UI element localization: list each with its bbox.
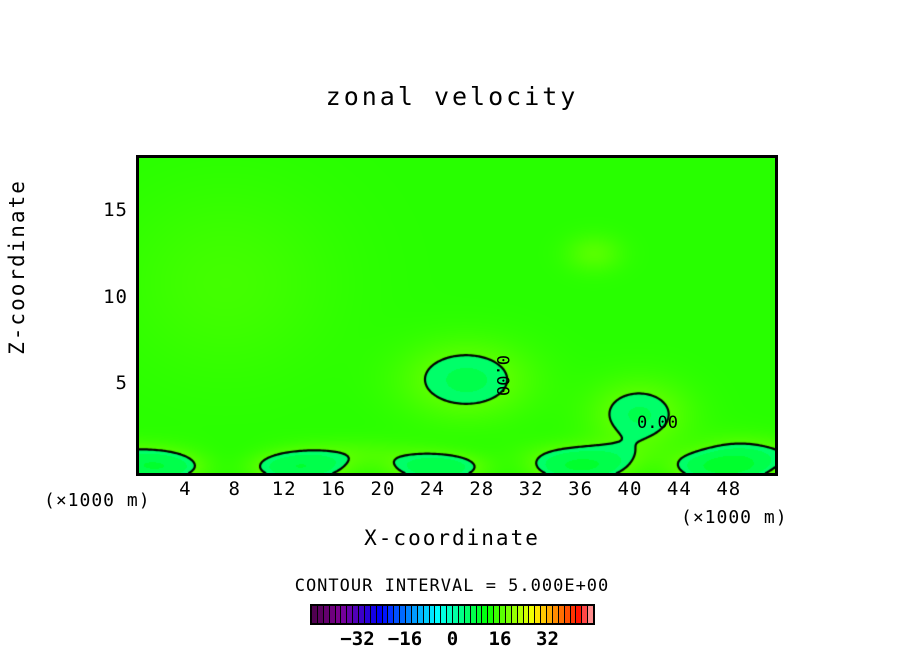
y-axis-tick-label: 5: [88, 372, 128, 394]
y-axis-units-label: (×1000 m): [44, 490, 151, 511]
x-axis-tick-label: 16: [312, 478, 356, 500]
contour-label-horizontal: 0.00: [637, 413, 678, 433]
colorbar-tick-labels: −32−1601632: [310, 628, 595, 652]
colorbar-tick-label: −32: [333, 628, 383, 650]
x-axis-tick-label: 32: [509, 478, 553, 500]
x-axis-title: X-coordinate: [0, 526, 904, 550]
y-axis-tick-label: 10: [88, 286, 128, 308]
colorbar: [310, 604, 595, 625]
colorbar-caption: CONTOUR INTERVAL = 5.000E+00: [0, 576, 904, 596]
y-axis-title: Z-coordinate: [5, 117, 29, 417]
x-axis-tick-label: 36: [559, 478, 603, 500]
contour-label-vertical: 0.00: [492, 355, 512, 396]
colorbar-tick-label: 16: [475, 628, 525, 650]
contour-field-canvas: [139, 158, 775, 473]
contour-plot-area: [136, 155, 778, 476]
x-axis-units-label: (×1000 m): [681, 507, 788, 528]
x-axis-tick-label: 20: [361, 478, 405, 500]
x-axis-tick-label: 24: [410, 478, 454, 500]
x-axis-tick-label: 28: [460, 478, 504, 500]
colorbar-tick-label: −16: [380, 628, 430, 650]
x-axis-tick-label: 8: [213, 478, 257, 500]
x-axis-tick-label: 4: [163, 478, 207, 500]
colorbar-band: [588, 606, 593, 623]
x-axis-tick-label: 44: [657, 478, 701, 500]
colorbar-tick-label: 32: [523, 628, 573, 650]
page-title: zonal velocity: [0, 82, 904, 111]
colorbar-tick-label: 0: [428, 628, 478, 650]
x-axis-tick-label: 12: [262, 478, 306, 500]
x-axis-tick-label: 40: [608, 478, 652, 500]
y-axis-tick-label: 15: [88, 199, 128, 221]
x-axis-tick-label: 48: [707, 478, 751, 500]
